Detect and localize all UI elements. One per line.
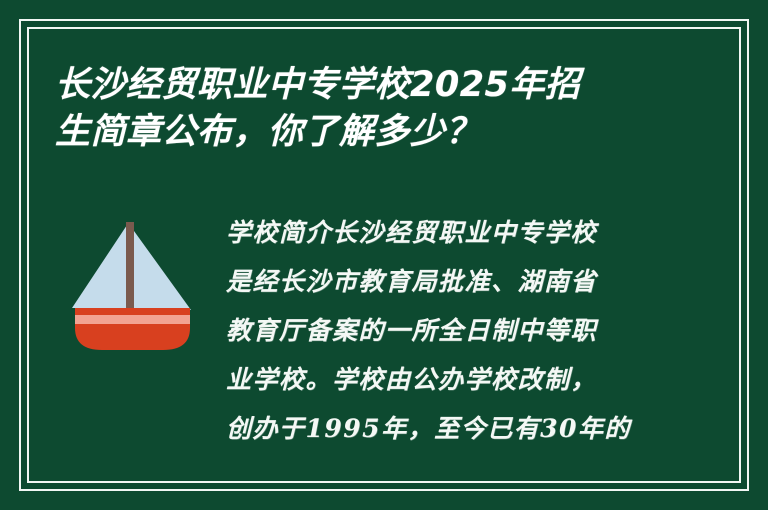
title-line-1: 长沙经贸职业中专学校2025年招 [55, 62, 715, 109]
body-line-5: 创办于1995年，至今已有30年的 [226, 404, 656, 453]
page-title: 长沙经贸职业中专学校2025年招 生简章公布，你了解多少？ [55, 62, 715, 156]
sailboat-left-sail [72, 225, 127, 308]
sailboat-right-sail [134, 231, 191, 310]
poster-canvas: 长沙经贸职业中专学校2025年招 生简章公布，你了解多少？ 学校简介长沙经贸职业… [0, 0, 768, 510]
body-line-1: 学校简介长沙经贸职业中专学校 [226, 208, 656, 257]
body-line-4: 业学校。学校由公办学校改制， [226, 355, 656, 404]
sailboat-mast [126, 222, 134, 317]
title-line-2: 生简章公布，你了解多少？ [55, 109, 715, 156]
body-line-3: 教育厅备案的一所全日制中等职 [226, 306, 656, 355]
sailboat-hull-stripe [75, 315, 190, 324]
body-line-2: 是经长沙市教育局批准、湖南省 [226, 257, 656, 306]
body-text: 学校简介长沙经贸职业中专学校 是经长沙市教育局批准、湖南省 教育厅备案的一所全日… [226, 208, 656, 453]
sailboat-icon [58, 205, 203, 355]
sailboat-hull [75, 308, 190, 350]
